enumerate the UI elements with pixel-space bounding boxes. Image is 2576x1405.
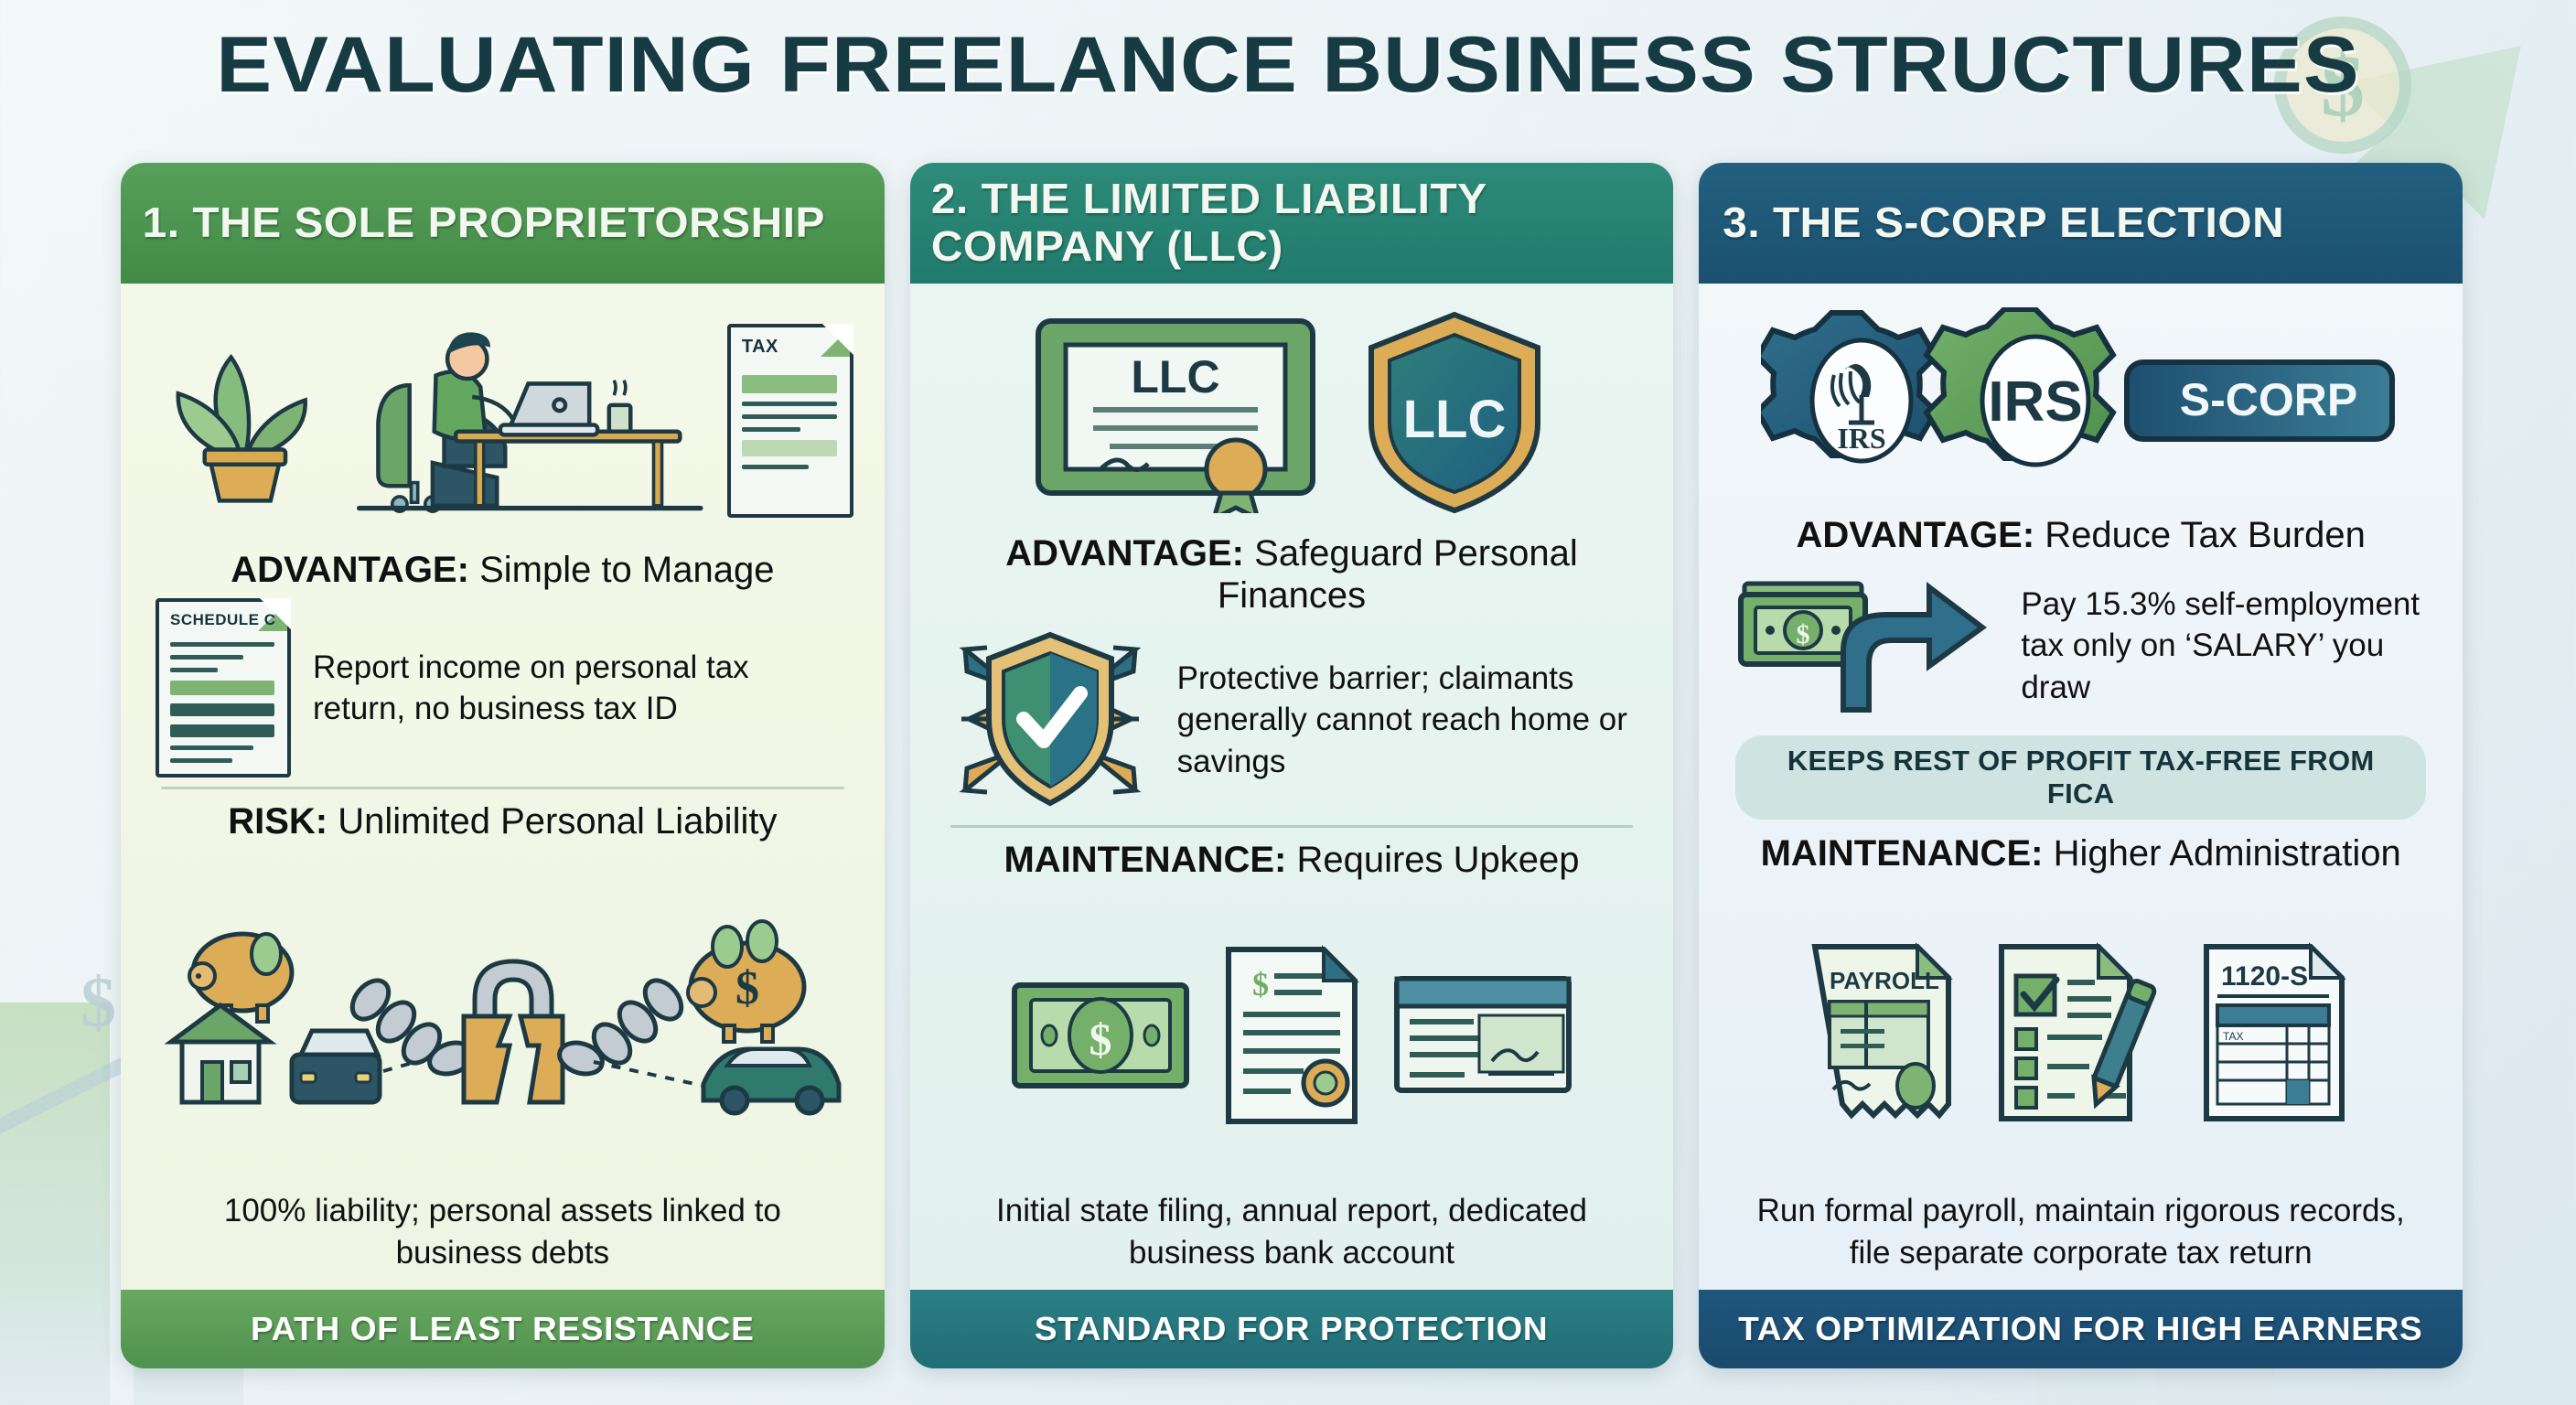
broken-liability-chain-illustration: $ bbox=[155, 916, 850, 1117]
llc-certificate-icon: LLC bbox=[1033, 312, 1335, 513]
section-title-advantage-1: ADVANTAGE: Simple to Manage bbox=[152, 549, 853, 591]
piggy-bank-dollar-icon: $ bbox=[688, 921, 804, 1042]
card-body-llc: LLC LLC bbox=[910, 284, 1674, 1290]
card-sole-proprietorship: 1. THE SOLE PROPRIETORSHIP bbox=[121, 163, 885, 1368]
schedule-c-document-icon: SCHEDULE C bbox=[156, 598, 291, 778]
svg-text:LLC: LLC bbox=[1403, 390, 1507, 449]
payroll-receipt-icon: PAYROLL bbox=[1808, 941, 1963, 1124]
section-title-advantage-2: ADVANTAGE: Safeguard Personal Finances bbox=[941, 532, 1643, 617]
doc-fold-corner-icon bbox=[258, 602, 287, 631]
card-header-llc: 2. THE LIMITED LIABILITY COMPANY (LLC) bbox=[910, 163, 1674, 284]
form-number-label: 1120-S bbox=[2221, 961, 2308, 992]
section-row-advantage-3: $ Pay 15.3% self-employment tax only on … bbox=[1730, 560, 2431, 732]
section-title-maintenance-2: MAINTENANCE: Requires Upkeep bbox=[941, 839, 1643, 881]
schedule-c-label: SCHEDULE C bbox=[170, 611, 276, 629]
section-label: ADVANTAGE: bbox=[1796, 515, 2034, 555]
svg-text:$: $ bbox=[735, 962, 759, 1014]
cash-stack-with-split-arrow-icon: $ bbox=[1733, 563, 1999, 728]
sealed-filing-document-icon: $ bbox=[1223, 944, 1360, 1127]
section-headline: Safeguard Personal Finances bbox=[1218, 533, 1578, 616]
svg-text:LLC: LLC bbox=[1131, 351, 1219, 402]
section-title-risk-1: RISK: Unlimited Personal Liability bbox=[152, 800, 853, 842]
card-header-label: 3. THE S-CORP ELECTION bbox=[1723, 199, 2285, 247]
comparison-columns: 1. THE SOLE PROPRIETORSHIP bbox=[121, 163, 2463, 1368]
card-body-sole-proprietorship: TAX ADVANTAGE: Simple to Manage SCH bbox=[121, 284, 885, 1290]
banknote-icon: $ bbox=[1009, 976, 1192, 1095]
section-text-advantage-3: Pay 15.3% self-employment tax only on ‘S… bbox=[2021, 584, 2428, 709]
chain-link-icon bbox=[556, 973, 689, 1078]
irs-gear-icon: IRS bbox=[1927, 309, 2113, 465]
section-caption-maintenance-3: Run formal payroll, maintain rigorous re… bbox=[1730, 1185, 2431, 1282]
svg-text:$: $ bbox=[1797, 619, 1810, 649]
bg-dollar-sign-icon: $ bbox=[80, 961, 116, 1044]
car-side-icon bbox=[703, 1049, 839, 1113]
section-row-advantage-2: Protective barrier; claimants generally … bbox=[941, 620, 1643, 820]
section-headline: Simple to Manage bbox=[479, 550, 774, 590]
hero-sole-proprietorship: TAX bbox=[152, 298, 853, 543]
checklist-with-pen-icon bbox=[1994, 941, 2168, 1124]
broken-padlock-icon bbox=[464, 961, 563, 1102]
svg-text:S-CORP: S-CORP bbox=[2179, 374, 2356, 425]
house-icon bbox=[171, 1005, 270, 1102]
svg-text:TAX: TAX bbox=[2223, 1030, 2243, 1043]
piggy-bank-icon bbox=[189, 934, 292, 1022]
shield-check-with-deflecting-arrows-icon bbox=[945, 624, 1155, 816]
payroll-label: PAYROLL bbox=[1830, 967, 1939, 994]
card-footer-label: STANDARD FOR PROTECTION bbox=[1035, 1310, 1548, 1348]
section-label: MAINTENANCE: bbox=[1761, 833, 2044, 874]
page-title: EVALUATING FREELANCE BUSINESS STRUCTURES bbox=[0, 20, 2576, 111]
card-footer-label: PATH OF LEAST RESISTANCE bbox=[251, 1310, 754, 1348]
icon-row-maintenance-2: $ $ bbox=[941, 885, 1643, 1185]
plant-icon bbox=[152, 325, 333, 517]
icon-row-maintenance-3: PAYROLL bbox=[1730, 878, 2431, 1185]
card-footer-llc: STANDARD FOR PROTECTION bbox=[910, 1290, 1674, 1368]
person-at-desk-icon bbox=[357, 316, 703, 526]
card-s-corp-election: 3. THE S-CORP ELECTION bbox=[1699, 163, 2463, 1368]
svg-text:IRS: IRS bbox=[1988, 370, 2082, 434]
hero-llc: LLC LLC bbox=[941, 298, 1643, 527]
section-title-advantage-3: ADVANTAGE: Reduce Tax Burden bbox=[1730, 514, 2431, 556]
section-text-advantage-1: Report income on personal tax return, no… bbox=[313, 647, 850, 730]
section-caption-risk-1: 100% liability; personal assets linked t… bbox=[152, 1185, 853, 1282]
section-caption-maintenance-2: Initial state filing, annual report, ded… bbox=[941, 1185, 1643, 1282]
llc-shield-icon: LLC bbox=[1358, 307, 1551, 518]
card-limited-liability-company: 2. THE LIMITED LIABILITY COMPANY (LLC) L… bbox=[910, 163, 1674, 1368]
card-footer-label: TAX OPTIMIZATION FOR HIGH EARNERS bbox=[1739, 1310, 2423, 1348]
tax-doc-label: TAX bbox=[742, 337, 778, 358]
section-title-maintenance-3: MAINTENANCE: Higher Administration bbox=[1730, 832, 2431, 874]
bank-check-icon bbox=[1391, 971, 1574, 1099]
hero-s-corp: S-CORP IRS IRS bbox=[1730, 298, 2431, 509]
status-badge-fica: KEEPS REST OF PROFIT TAX-FREE FROM FICA bbox=[1735, 735, 2426, 820]
section-divider bbox=[950, 825, 1634, 828]
irs-seal-gear-icon: IRS bbox=[1761, 313, 1936, 461]
section-label: ADVANTAGE: bbox=[231, 550, 469, 590]
icon-row-risk-assets: $ bbox=[152, 846, 853, 1185]
section-divider bbox=[161, 787, 844, 789]
section-label: MAINTENANCE: bbox=[1004, 840, 1286, 880]
bg-bar-chart-bar-1 bbox=[0, 1003, 110, 1405]
card-footer-s-corp: TAX OPTIMIZATION FOR HIGH EARNERS bbox=[1699, 1290, 2463, 1368]
card-body-s-corp: S-CORP IRS IRS bbox=[1699, 284, 2463, 1290]
irs-s-corp-gears-icon: S-CORP IRS IRS bbox=[1761, 307, 2401, 499]
section-headline: Reduce Tax Burden bbox=[2045, 515, 2366, 555]
car-front-icon bbox=[292, 1031, 380, 1102]
card-header-label: 1. THE SOLE PROPRIETORSHIP bbox=[143, 199, 825, 247]
section-headline: Requires Upkeep bbox=[1296, 840, 1579, 880]
section-label: RISK: bbox=[228, 801, 327, 842]
card-header-s-corp: 3. THE S-CORP ELECTION bbox=[1699, 163, 2463, 284]
svg-text:$: $ bbox=[1089, 1014, 1112, 1065]
card-header-sole-proprietorship: 1. THE SOLE PROPRIETORSHIP bbox=[121, 163, 885, 284]
tax-document-icon: TAX bbox=[727, 324, 853, 518]
card-header-label: 2. THE LIMITED LIABILITY COMPANY (LLC) bbox=[930, 176, 1652, 270]
section-headline: Higher Administration bbox=[2054, 833, 2401, 874]
svg-text:IRS: IRS bbox=[1837, 422, 1885, 455]
section-headline: Unlimited Personal Liability bbox=[338, 801, 777, 842]
section-label: ADVANTAGE: bbox=[1005, 533, 1244, 574]
form-1120s-icon: 1120-S TAX bbox=[2199, 941, 2355, 1124]
section-row-advantage-1: SCHEDULE C Report income on personal tax… bbox=[152, 595, 853, 781]
card-footer-sole-proprietorship: PATH OF LEAST RESISTANCE bbox=[121, 1290, 885, 1368]
section-text-advantage-2: Protective barrier; claimants generally … bbox=[1177, 658, 1639, 783]
doc-fold-corner-icon bbox=[821, 327, 850, 357]
svg-text:$: $ bbox=[1252, 966, 1269, 1003]
